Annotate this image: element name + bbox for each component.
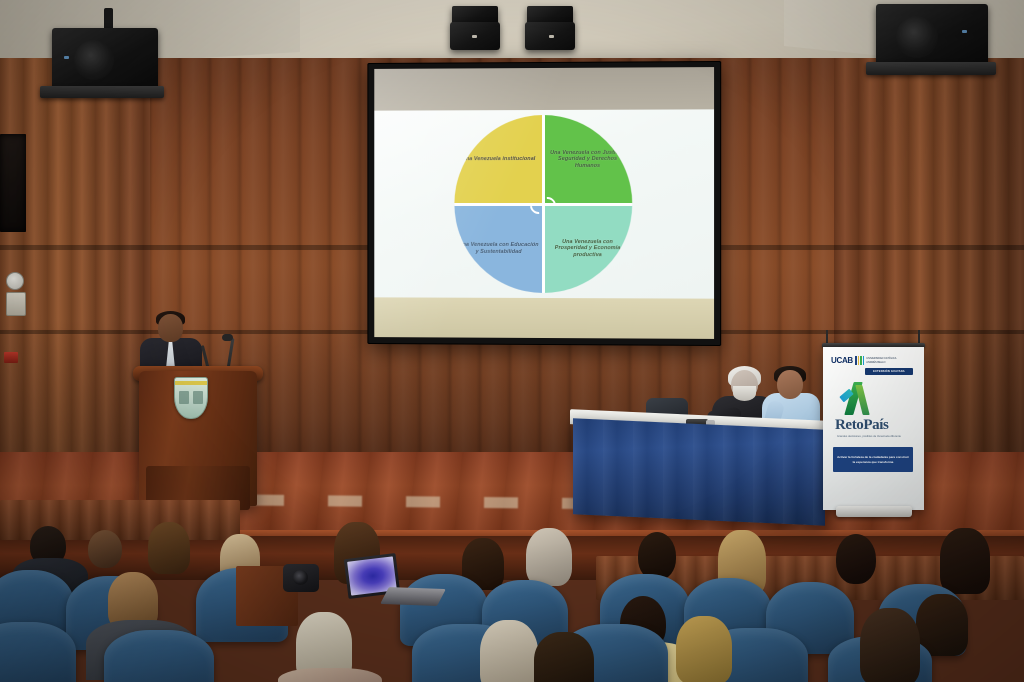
audience [0,512,1024,682]
slide-quadrant-bottom-left: Una Venezuela con Educación y Sustentabi… [454,204,543,293]
screen-bottom-band [374,297,714,339]
banner-brand-subtitle: Grandes decisiones, posibles de Venezuel… [837,435,901,438]
audience-head [676,616,732,682]
speaker-led-icon [64,56,69,59]
slide-donut-chart: Una Venezuela institucional Una Venezuel… [454,115,632,294]
slide-quadrant-label: Una Venezuela institucional [459,156,538,163]
retopais-logo-icon [839,382,879,415]
slide-canvas: Una Venezuela institucional Una Venezuel… [374,109,714,298]
loudspeaker-ceiling-2 [525,22,575,50]
slide-quadrant-label: Una Venezuela con Prosperidad y Economía… [543,239,632,259]
audience-head [860,608,920,682]
banner-tagline-box: Activar la fortaleza de la ciudadanía pa… [833,447,913,472]
loudspeaker-right [876,4,988,66]
speaker-shelf-left [40,86,164,98]
fire-alarm-icon [4,352,18,363]
audience-head [534,632,594,682]
speaker-cone-icon [896,16,938,58]
laptop-keyboard [380,587,446,606]
presenter-head [158,314,183,342]
audience-head [148,522,190,574]
slide-quadrant-top-right: Una Venezuela con Justicia, Seguridad y … [543,115,632,204]
audience-head [940,528,990,594]
panelist-younger-head [777,370,803,399]
banner-extension-label: EXTENSIÓN GUAYANA [873,370,905,373]
slide-quadrant-bottom-right: Una Venezuela con Prosperidad y Economía… [543,204,632,293]
audience-head [638,532,676,580]
cycle-arrows-icon [530,191,556,217]
speaker-bracket-left [104,8,113,30]
speaker-led-icon [472,35,477,38]
audience-head [836,534,876,584]
wall-clock-icon [6,272,24,290]
speaker-led-icon [549,35,554,38]
auditorium-photo: Una Venezuela institucional Una Venezuel… [0,0,1024,682]
audience-head [480,620,538,682]
speaker-led-icon [962,30,967,33]
loudspeaker-ceiling-1 [450,22,500,50]
banner-cord-right [918,330,920,344]
microphone-head-icon [222,334,233,341]
slide-quadrant-label: Una Venezuela con Educación y Sustentabi… [454,242,543,255]
panelist-older-beard [733,386,756,401]
audience-seat [0,622,76,682]
university-crest-icon [174,377,208,419]
ucab-logo: UCAB UNIVERSIDAD CATÓLICA ANDRÉS BELLO [831,356,900,365]
audience-shoulders [278,668,382,682]
audience-head [526,528,572,586]
dark-wall-panel [0,134,26,232]
screen-top-band [374,67,714,111]
speaker-shelf-right [866,62,996,75]
banner-cord-left [826,330,828,344]
slide-quadrant-label: Una Venezuela con Justicia, Seguridad y … [543,149,632,169]
ucab-full-name: UNIVERSIDAD CATÓLICA ANDRÉS BELLO [866,357,900,363]
ucab-bars-icon [855,356,864,365]
ucab-wordmark: UCAB [831,356,853,365]
projection-screen-surface: Una Venezuela institucional Una Venezuel… [374,67,714,339]
banner-extension-badge: EXTENSIÓN GUAYANA [865,368,913,375]
rollup-banner: UCAB UNIVERSIDAD CATÓLICA ANDRÉS BELLO E… [823,347,924,510]
wall-switch-plate [6,292,26,316]
speaker-cone-icon [74,40,114,80]
camera-lens-icon [293,570,308,585]
audience-head [88,530,122,568]
banner-brand: RetoPaís [835,417,888,434]
banner-tagline: Activar la fortaleza de la ciudadanía pa… [837,455,909,464]
audience-seat [104,630,214,682]
projection-screen: Una Venezuela institucional Una Venezuel… [367,61,721,346]
loudspeaker-left [52,28,158,90]
panel-table-skirt [573,418,825,525]
